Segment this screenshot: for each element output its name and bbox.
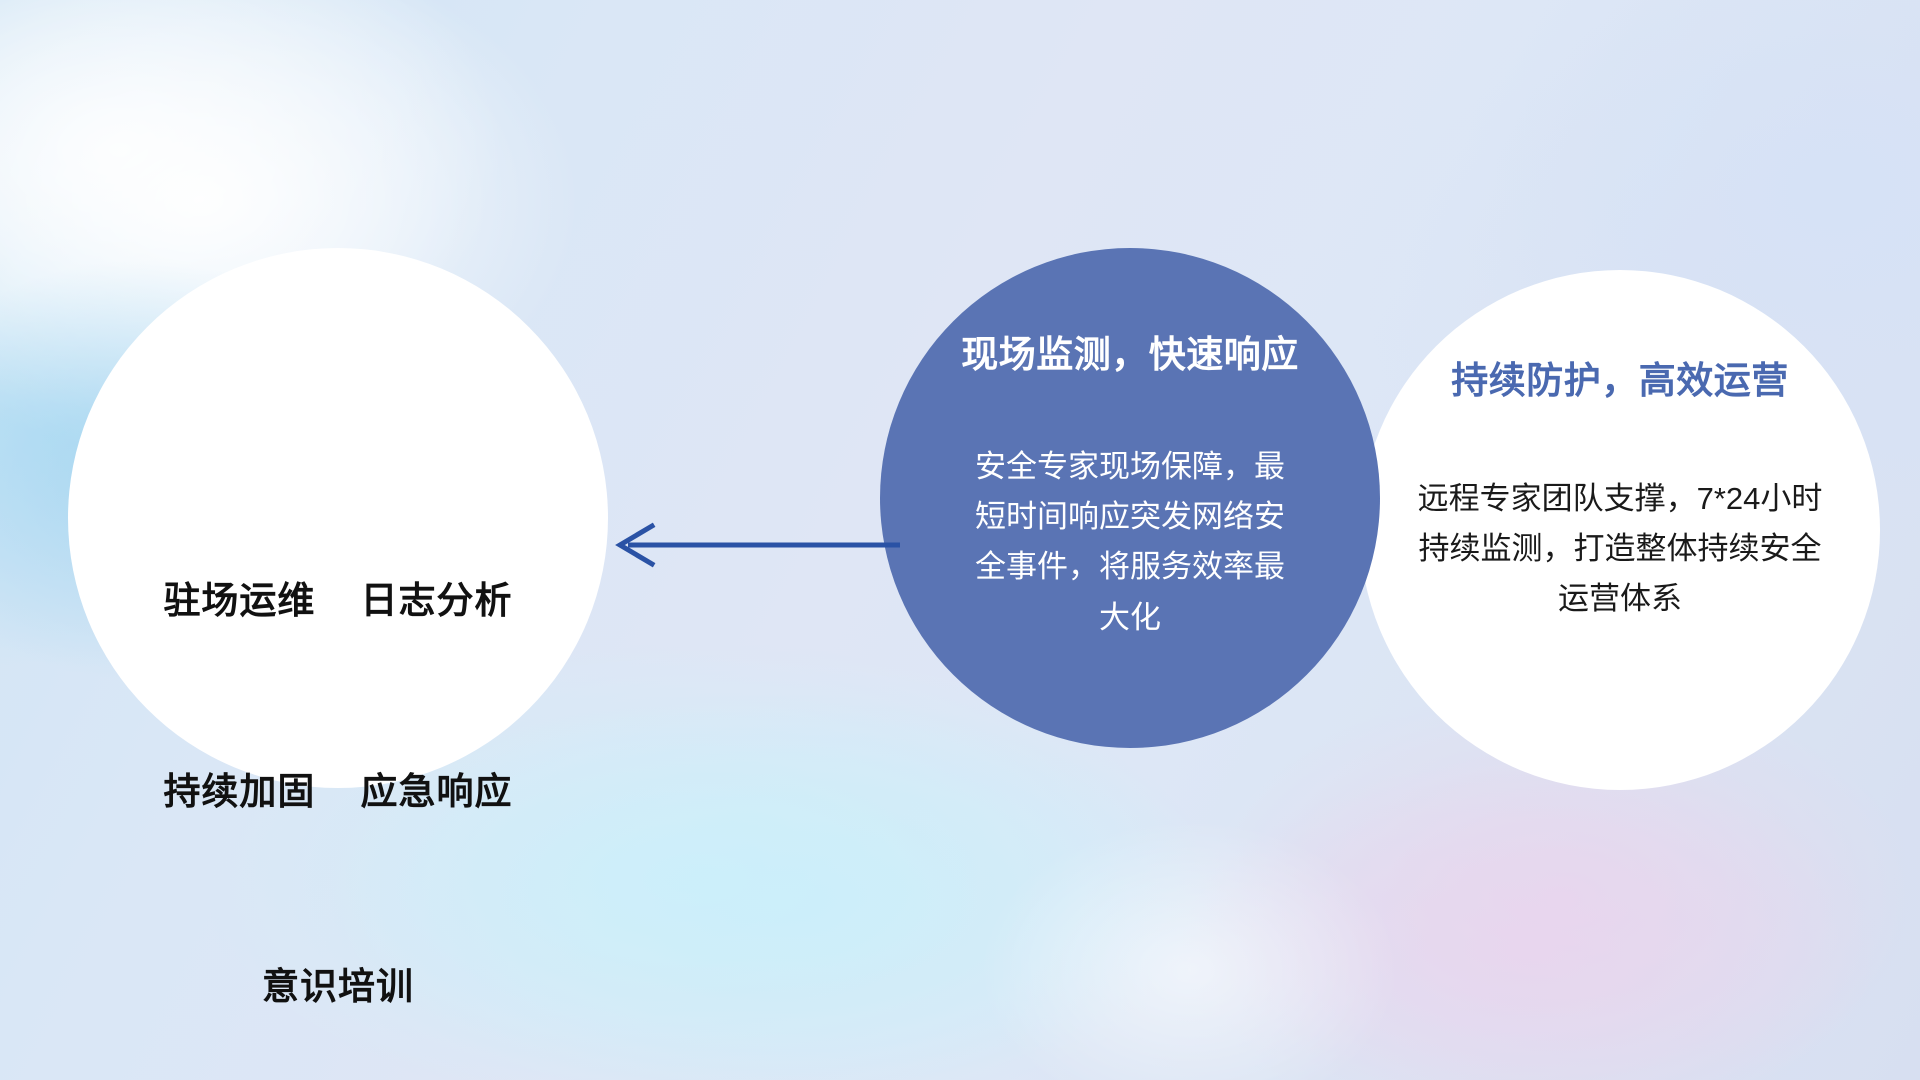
arrow-left-icon — [600, 520, 900, 570]
right-circle-card[interactable]: 持续防护，高效运营 远程专家团队支撑，7*24小时持续监测，打造整体持续安全运营… — [1360, 270, 1880, 790]
left-circle-line-1: 驻场运维 日志分析 — [163, 569, 512, 633]
center-circle-card[interactable]: 现场监测，快速响应 安全专家现场保障，最短时间响应突发网络安全事件，将服务效率最… — [880, 248, 1380, 748]
left-circle-card[interactable]: 驻场运维 日志分析 持续加固 应急响应 意识培训 — [68, 248, 608, 788]
left-circle-text-block: 驻场运维 日志分析 持续加固 应急响应 意识培训 — [163, 442, 512, 1080]
right-circle-title: 持续防护，高效运营 — [1451, 350, 1789, 404]
center-circle-title: 现场监测，快速响应 — [961, 324, 1299, 378]
slide-canvas: 驻场运维 日志分析 持续加固 应急响应 意识培训 持续防护，高效运营 远程专家团… — [0, 0, 1920, 1080]
left-circle-line-3: 意识培训 — [163, 955, 512, 1019]
right-circle-body: 远程专家团队支撑，7*24小时持续监测，打造整体持续安全运营体系 — [1415, 474, 1825, 625]
left-circle-line-2: 持续加固 应急响应 — [163, 760, 512, 824]
background-glow-bottom-mid — [980, 820, 1400, 1080]
center-circle-body: 安全专家现场保障，最短时间响应突发网络安全事件，将服务效率最大化 — [965, 442, 1295, 643]
background-glow-bottom-right — [1180, 760, 1880, 1080]
